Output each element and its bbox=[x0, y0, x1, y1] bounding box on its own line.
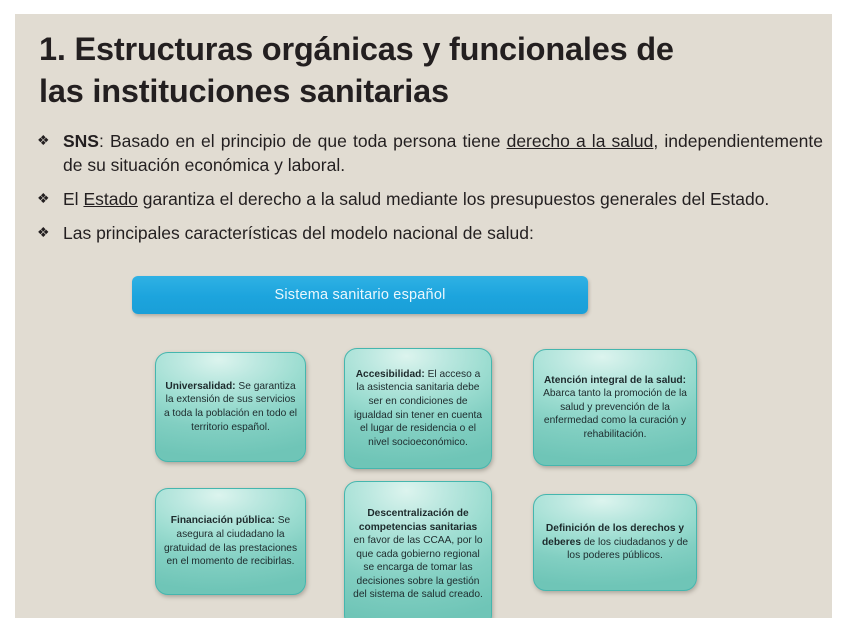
bullet-list: ❖ SNS: Basado en el principio de que tod… bbox=[37, 129, 823, 256]
page-title-line-2: las instituciones sanitarias bbox=[39, 73, 449, 109]
bullet-item-caracteristicas: ❖ Las principales características del mo… bbox=[37, 221, 823, 245]
box-atencion-integral: Atención integral de la salud: Abarca ta… bbox=[533, 349, 697, 466]
bullet-estado-underlined: Estado bbox=[83, 189, 137, 209]
bullet-estado-text-2: garantiza el derecho a la salud mediante… bbox=[138, 189, 769, 209]
bullet-sns-lead: SNS bbox=[63, 131, 99, 151]
bullet-estado-text-1: El bbox=[63, 189, 83, 209]
bullet-item-estado: ❖ El Estado garantiza el derecho a la sa… bbox=[37, 187, 823, 211]
bullet-caracteristicas-text: Las principales características del mode… bbox=[63, 223, 534, 243]
box-accesibilidad-body: El acceso a la asistencia sanitaria debe… bbox=[354, 369, 482, 448]
page-title: 1. Estructuras orgánicas y funcionales d… bbox=[39, 28, 809, 113]
banner-sistema-sanitario: Sistema sanitario español bbox=[132, 276, 588, 314]
bullet-sns-text-1: : Basado en el principio de que toda per… bbox=[99, 131, 507, 151]
box-definicion-text: Definición de los derechos y deberes de … bbox=[541, 522, 689, 563]
box-descentralizacion-text: Descentralización de competencias sanita… bbox=[352, 507, 484, 602]
box-accesibilidad-text: Accesibilidad: El acceso a la asistencia… bbox=[352, 368, 484, 449]
box-descentralizacion: Descentralización de competencias sanita… bbox=[344, 481, 492, 618]
bullet-sns-underlined: derecho a la salud bbox=[507, 131, 654, 151]
diamond-bullet-icon: ❖ bbox=[37, 221, 50, 243]
box-financiacion-text: Financiación pública: Se asegura al ciud… bbox=[163, 514, 298, 568]
box-definicion-derechos: Definición de los derechos y deberes de … bbox=[533, 494, 697, 591]
diamond-bullet-icon: ❖ bbox=[37, 129, 50, 151]
box-accesibilidad: Accesibilidad: El acceso a la asistencia… bbox=[344, 348, 492, 469]
box-financiacion-publica: Financiación pública: Se asegura al ciud… bbox=[155, 488, 306, 595]
box-atencion-integral-text: Atención integral de la salud: Abarca ta… bbox=[541, 374, 689, 442]
banner-label: Sistema sanitario español bbox=[274, 287, 445, 303]
box-descentralizacion-body: en favor de las CCAA, por lo que cada go… bbox=[353, 535, 483, 600]
box-atencion-integral-body: Abarca tanto la promoción de la salud y … bbox=[543, 388, 687, 440]
box-definicion-body: de los ciudadanos y de los poderes públi… bbox=[567, 537, 688, 562]
box-universalidad-text: Universalidad: Se garantiza la extensión… bbox=[163, 380, 298, 434]
box-atencion-integral-title: Atención integral de la salud: bbox=[544, 375, 686, 386]
diamond-bullet-icon: ❖ bbox=[37, 187, 50, 209]
page-title-line-1: 1. Estructuras orgánicas y funcionales d… bbox=[39, 31, 674, 67]
box-financiacion-title: Financiación pública: bbox=[171, 515, 275, 526]
box-universalidad-title: Universalidad: bbox=[165, 381, 235, 392]
box-universalidad: Universalidad: Se garantiza la extensión… bbox=[155, 352, 306, 462]
box-descentralizacion-title: Descentralización de competencias sanita… bbox=[359, 508, 477, 533]
box-accesibilidad-title: Accesibilidad: bbox=[356, 369, 425, 380]
bullet-item-sns: ❖ SNS: Basado en el principio de que tod… bbox=[37, 129, 823, 177]
slide-canvas: 1. Estructuras orgánicas y funcionales d… bbox=[15, 14, 832, 618]
